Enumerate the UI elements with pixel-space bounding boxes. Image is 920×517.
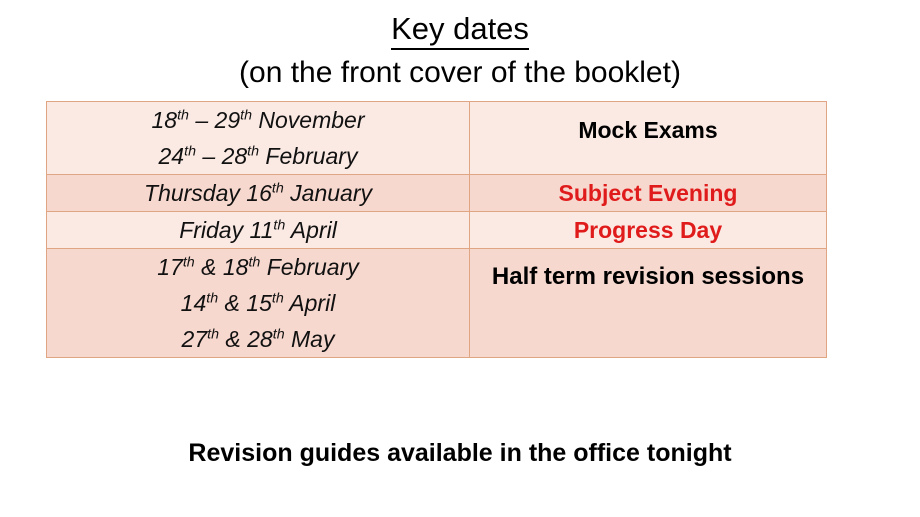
ordinal-suffix: th (272, 290, 284, 306)
table-body: 18th – 29th November 24th – 28th Februar… (47, 102, 827, 358)
date-line: Friday 11th April (47, 212, 469, 248)
ordinal-suffix: th (207, 326, 219, 342)
date-cell: Friday 11th April (47, 212, 470, 249)
table-row: Thursday 16th January Subject Evening (47, 175, 827, 212)
event-cell: Subject Evening (470, 175, 827, 212)
ordinal-suffix: th (177, 107, 189, 123)
date-cell: 18th – 29th November 24th – 28th Februar… (47, 102, 470, 175)
date-line: 24th – 28th February (47, 138, 469, 174)
event-cell: Half term revision sessions (470, 249, 827, 358)
table-row: 17th & 18th February 14th & 15th April 2… (47, 249, 827, 358)
date-line: 18th – 29th November (47, 102, 469, 138)
ordinal-suffix: th (273, 326, 285, 342)
ordinal-suffix: th (240, 107, 252, 123)
date-line: 14th & 15th April (47, 285, 469, 321)
date-line: 27th & 28th May (47, 321, 469, 357)
page-title: Key dates (391, 10, 529, 50)
table-row: Friday 11th April Progress Day (47, 212, 827, 249)
ordinal-suffix: th (184, 143, 196, 159)
ordinal-suffix: th (206, 290, 218, 306)
event-cell: Mock Exams (470, 102, 827, 175)
date-line: Thursday 16th January (47, 175, 469, 211)
footer-note: Revision guides available in the office … (0, 437, 920, 469)
ordinal-suffix: th (248, 254, 260, 270)
page-subtitle: (on the front cover of the booklet) (0, 54, 920, 92)
page-title-wrapper: Key dates (0, 10, 920, 50)
ordinal-suffix: th (183, 254, 195, 270)
key-dates-table: 18th – 29th November 24th – 28th Februar… (46, 101, 827, 358)
ordinal-suffix: th (273, 217, 285, 233)
date-cell: Thursday 16th January (47, 175, 470, 212)
date-line: 17th & 18th February (47, 249, 469, 285)
date-cell: 17th & 18th February 14th & 15th April 2… (47, 249, 470, 358)
event-cell: Progress Day (470, 212, 827, 249)
heading-block: Key dates (on the front cover of the boo… (0, 10, 920, 92)
ordinal-suffix: th (272, 180, 284, 196)
ordinal-suffix: th (247, 143, 259, 159)
table-row: 18th – 29th November 24th – 28th Februar… (47, 102, 827, 175)
